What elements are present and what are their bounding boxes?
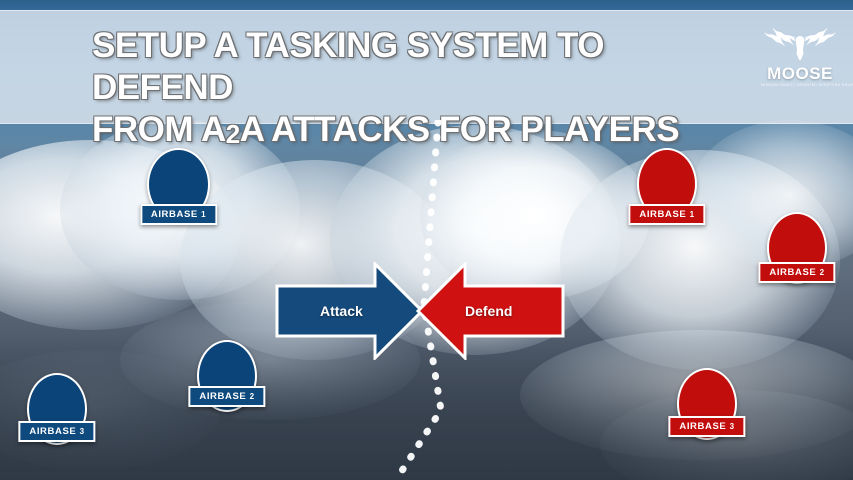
- blue-airbase-2[interactable]: AIRBASE 2: [197, 340, 257, 412]
- airbase-label: AIRBASE 1: [628, 204, 705, 225]
- airbase-label: AIRBASE 2: [758, 262, 835, 283]
- airbase-label-text: AIRBASE: [199, 391, 246, 402]
- attack-defend-arrows: Attack Defend: [275, 262, 565, 360]
- moose-antlers-icon: [764, 18, 836, 64]
- airbase-label-text: AIRBASE: [29, 426, 76, 437]
- airbase-label-number: 1: [690, 210, 695, 219]
- slide-canvas: SETUP A TASKING SYSTEM TO DEFEND FROM A2…: [0, 0, 853, 480]
- moose-logo: MOOSE MISSION OBJECT ORIENTED SCRIPTING …: [761, 18, 839, 100]
- red-airbase-3[interactable]: AIRBASE 3: [677, 368, 737, 440]
- arrows-svg: [275, 262, 565, 360]
- red-airbase-2[interactable]: AIRBASE 2: [767, 212, 827, 284]
- red-airbase-1[interactable]: AIRBASE 1: [637, 148, 697, 220]
- blue-airbase-3[interactable]: AIRBASE 3: [27, 373, 87, 445]
- airbase-label-number: 2: [820, 268, 825, 277]
- airbase-label: AIRBASE 1: [140, 204, 217, 225]
- airbase-label-number: 1: [201, 210, 206, 219]
- airbase-label-number: 2: [250, 392, 255, 401]
- title-line-2-subscript: 2: [226, 119, 240, 149]
- title-line-2-post: A ATTACKS FOR PLAYERS: [240, 110, 679, 149]
- airbase-label-text: AIRBASE: [769, 267, 816, 278]
- blue-airbase-1[interactable]: AIRBASE 1: [147, 148, 210, 221]
- defend-arrow-label: Defend: [465, 303, 512, 319]
- airbase-label-text: AIRBASE: [151, 209, 198, 220]
- title-line-1: SETUP A TASKING SYSTEM TO DEFEND: [92, 25, 732, 109]
- airbase-label: AIRBASE 3: [668, 416, 745, 437]
- page-title: SETUP A TASKING SYSTEM TO DEFEND FROM A2…: [92, 25, 732, 155]
- airbase-label: AIRBASE 3: [18, 421, 95, 442]
- logo-tagline: MISSION OBJECT ORIENTED SCRIPTING ENVIRO…: [761, 83, 839, 88]
- attack-arrow-label: Attack: [320, 303, 363, 319]
- airbase-label-number: 3: [730, 422, 735, 431]
- airbase-label-text: AIRBASE: [639, 209, 686, 220]
- title-line-2-pre: FROM A: [92, 110, 226, 149]
- airbase-label: AIRBASE 2: [188, 386, 265, 407]
- airbase-label-text: AIRBASE: [679, 421, 726, 432]
- airbase-label-number: 3: [80, 427, 85, 436]
- logo-wordmark: MOOSE: [761, 65, 839, 82]
